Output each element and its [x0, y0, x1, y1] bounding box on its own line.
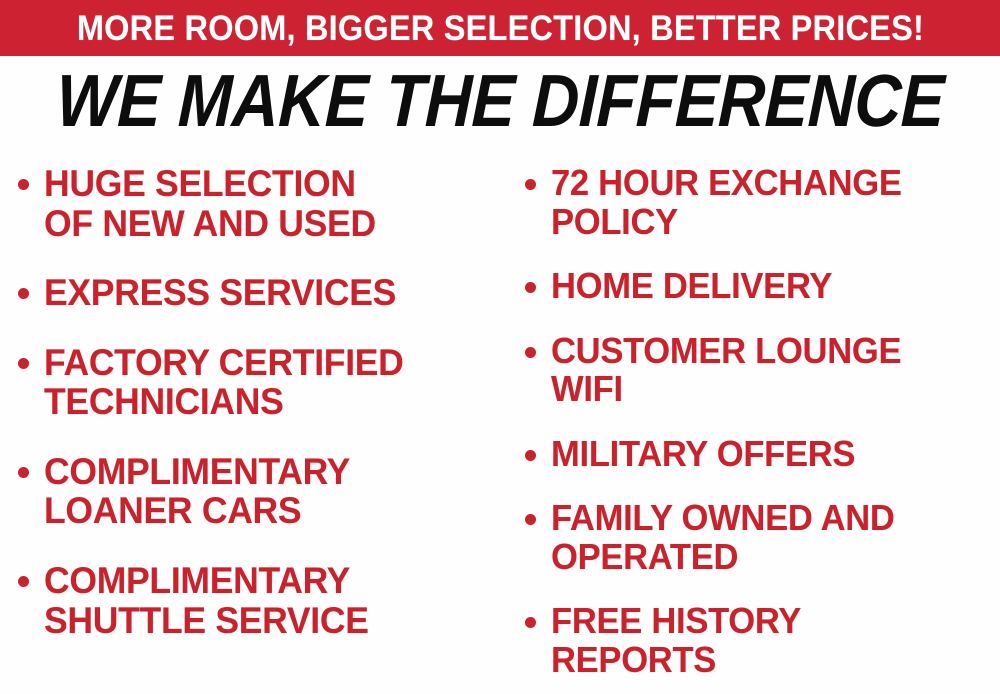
list-item: FAMILY OWNED AND OPERATED: [525, 499, 1000, 576]
list-item: FREE HISTORY REPORTS: [525, 602, 1000, 679]
list-item-label: COMPLIMENTARY SHUTTLE SERVICE: [44, 561, 369, 640]
top-promo-banner-text: MORE ROOM, BIGGER SELECTION, BETTER PRIC…: [76, 11, 923, 46]
list-item-label: 72 HOUR EXCHANGE POLICY: [551, 164, 902, 241]
features-column-right: 72 HOUR EXCHANGE POLICY HOME DELIVERY CU…: [505, 150, 1000, 694]
list-item-label: HUGE SELECTION OF NEW AND USED: [44, 164, 376, 243]
bullet-dot-icon: [18, 179, 29, 190]
bullet-dot-icon: [525, 179, 536, 190]
list-item-label: FAMILY OWNED AND OPERATED: [551, 499, 895, 576]
list-item-label: FACTORY CERTIFIED TECHNICIANS: [44, 343, 404, 422]
bullet-dot-icon: [18, 576, 29, 587]
features-columns: HUGE SELECTION OF NEW AND USED EXPRESS S…: [0, 150, 1000, 694]
list-item: FACTORY CERTIFIED TECHNICIANS: [18, 343, 505, 422]
list-item-label: HOME DELIVERY: [551, 267, 832, 306]
headline-container: WE MAKE THE DIFFERENCE: [0, 62, 1000, 140]
list-item-label: FREE HISTORY REPORTS: [551, 602, 801, 679]
page-title: WE MAKE THE DIFFERENCE: [55, 64, 945, 138]
list-item: HUGE SELECTION OF NEW AND USED: [18, 164, 505, 243]
list-item: CUSTOMER LOUNGE WIFI: [525, 332, 1000, 409]
bullet-dot-icon: [18, 358, 29, 369]
list-item-label: EXPRESS SERVICES: [44, 273, 396, 313]
list-item-label: CUSTOMER LOUNGE WIFI: [551, 332, 901, 409]
list-item: HOME DELIVERY: [525, 267, 1000, 306]
top-promo-banner: MORE ROOM, BIGGER SELECTION, BETTER PRIC…: [0, 0, 1000, 56]
list-item: 72 HOUR EXCHANGE POLICY: [525, 164, 1000, 241]
bullet-dot-icon: [525, 617, 536, 628]
features-column-left: HUGE SELECTION OF NEW AND USED EXPRESS S…: [0, 150, 505, 694]
bullet-dot-icon: [525, 450, 536, 461]
list-item: COMPLIMENTARY SHUTTLE SERVICE: [18, 561, 505, 640]
bullet-dot-icon: [525, 347, 536, 358]
bullet-dot-icon: [18, 288, 29, 299]
list-item: EXPRESS SERVICES: [18, 273, 505, 313]
list-item: MILITARY OFFERS: [525, 435, 1000, 474]
list-item-label: MILITARY OFFERS: [551, 435, 855, 474]
bullet-dot-icon: [525, 514, 536, 525]
bullet-dot-icon: [525, 282, 536, 293]
list-item-label: COMPLIMENTARY LOANER CARS: [44, 452, 350, 531]
bullet-dot-icon: [18, 467, 29, 478]
list-item: COMPLIMENTARY LOANER CARS: [18, 452, 505, 531]
